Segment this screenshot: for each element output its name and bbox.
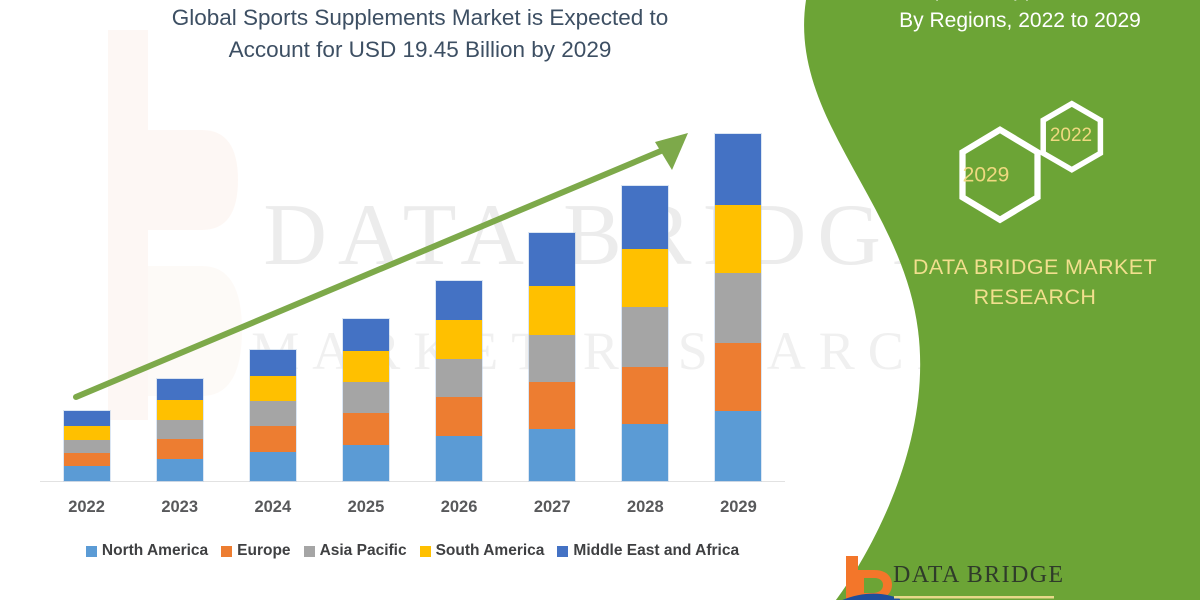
bar-segment <box>436 281 482 320</box>
bar-segment <box>250 350 296 376</box>
bar-segment <box>436 320 482 359</box>
bar-segment <box>250 426 296 452</box>
stacked-bar <box>436 281 482 481</box>
x-axis-label: 2023 <box>134 498 226 517</box>
legend-swatch-icon <box>221 546 232 557</box>
brand-line-1: DATA BRIDGE MARKET <box>885 252 1185 282</box>
stacked-bar <box>622 186 668 481</box>
bar-segment <box>64 426 110 440</box>
x-axis-label: 2025 <box>320 498 412 517</box>
legend-item[interactable]: Europe <box>221 542 290 560</box>
stacked-bar <box>64 411 110 481</box>
title-line-1: Global Sports Supplements Market is Expe… <box>110 2 730 34</box>
hexagon-2022-label: 2022 <box>1050 125 1092 146</box>
bar-column <box>227 110 319 481</box>
legend-label: North America <box>102 542 208 560</box>
bar-segment <box>250 452 296 481</box>
bar-column <box>692 110 784 481</box>
bar-segment <box>715 205 761 273</box>
bar-segment <box>715 134 761 205</box>
bar-column <box>599 110 691 481</box>
x-axis-line <box>40 481 785 482</box>
panel-heading: Global Sports Supplements Market, By Reg… <box>845 0 1195 36</box>
bar-segment <box>343 319 389 351</box>
legend-label: Europe <box>237 542 290 560</box>
legend-swatch-icon <box>304 546 315 557</box>
bar-segment <box>157 459 203 481</box>
bar-column <box>41 110 133 481</box>
title-line-2: Account for USD 19.45 Billion by 2029 <box>110 34 730 66</box>
bar-column <box>506 110 598 481</box>
bar-segment <box>250 376 296 401</box>
x-axis-label: 2027 <box>506 498 598 517</box>
bar-segment <box>157 420 203 439</box>
bar-segment <box>157 379 203 400</box>
bar-segment <box>64 466 110 481</box>
legend-item[interactable]: North America <box>86 542 208 560</box>
stacked-bar <box>715 134 761 481</box>
x-axis-label: 2024 <box>227 498 319 517</box>
bar-segment <box>64 411 110 426</box>
bar-segment <box>343 413 389 445</box>
bar-segment <box>529 335 575 382</box>
panel-heading-line-2: By Regions, 2022 to 2029 <box>845 5 1195 36</box>
bar-column <box>413 110 505 481</box>
brand-name: DATA BRIDGE MARKET RESEARCH <box>885 252 1185 312</box>
bar-column <box>134 110 226 481</box>
bar-segment <box>715 273 761 343</box>
bar-segment <box>715 343 761 411</box>
bar-segment <box>622 424 668 481</box>
bar-segment <box>529 233 575 286</box>
bar-segment <box>622 307 668 367</box>
bar-segment <box>436 397 482 436</box>
bar-segment <box>529 286 575 335</box>
stacked-bar <box>343 319 389 481</box>
bar-segment <box>529 429 575 481</box>
chart-legend: North AmericaEuropeAsia PacificSouth Ame… <box>40 538 785 564</box>
bar-segment <box>64 440 110 453</box>
page-title: Global Sports Supplements Market is Expe… <box>110 2 730 66</box>
x-axis-label: 2029 <box>692 498 784 517</box>
x-axis-labels: 20222023202420252026202720282029 <box>40 493 785 521</box>
infographic-root: DATA BRIDGE MARKET RESEARCH Global Sport… <box>0 0 1200 600</box>
stacked-bar <box>157 379 203 481</box>
bar-segment <box>157 400 203 420</box>
bar-segment <box>622 249 668 307</box>
bar-segment <box>622 186 668 249</box>
legend-swatch-icon <box>420 546 431 557</box>
bar-segment <box>343 445 389 481</box>
legend-label: South America <box>436 542 545 560</box>
bar-segment <box>250 401 296 426</box>
bar-segment <box>715 411 761 481</box>
bar-segment <box>343 351 389 382</box>
hexagon-2029-label: 2029 <box>963 164 1010 187</box>
legend-label: Asia Pacific <box>320 542 407 560</box>
bar-segment <box>622 367 668 424</box>
legend-swatch-icon <box>557 546 568 557</box>
year-hexagon-badges: 2029 2022 <box>920 96 1120 236</box>
legend-item[interactable]: Middle East and Africa <box>557 542 739 560</box>
x-axis-label: 2022 <box>41 498 133 517</box>
x-axis-label: 2028 <box>599 498 691 517</box>
bar-segment <box>436 436 482 481</box>
bar-segment <box>157 439 203 459</box>
legend-label: Middle East and Africa <box>573 542 739 560</box>
bar-chart-plot <box>40 110 785 481</box>
bar-segment <box>436 359 482 397</box>
stacked-bar <box>250 350 296 481</box>
stacked-bar <box>529 233 575 481</box>
data-bridge-logo-text: DATA BRIDGE <box>893 562 1064 589</box>
bar-segment <box>343 382 389 413</box>
bar-segment <box>529 382 575 429</box>
x-axis-label: 2026 <box>413 498 505 517</box>
legend-item[interactable]: Asia Pacific <box>304 542 407 560</box>
bar-segment <box>64 453 110 466</box>
bar-column <box>320 110 412 481</box>
brand-line-2: RESEARCH <box>885 282 1185 312</box>
legend-swatch-icon <box>86 546 97 557</box>
legend-item[interactable]: South America <box>420 542 545 560</box>
